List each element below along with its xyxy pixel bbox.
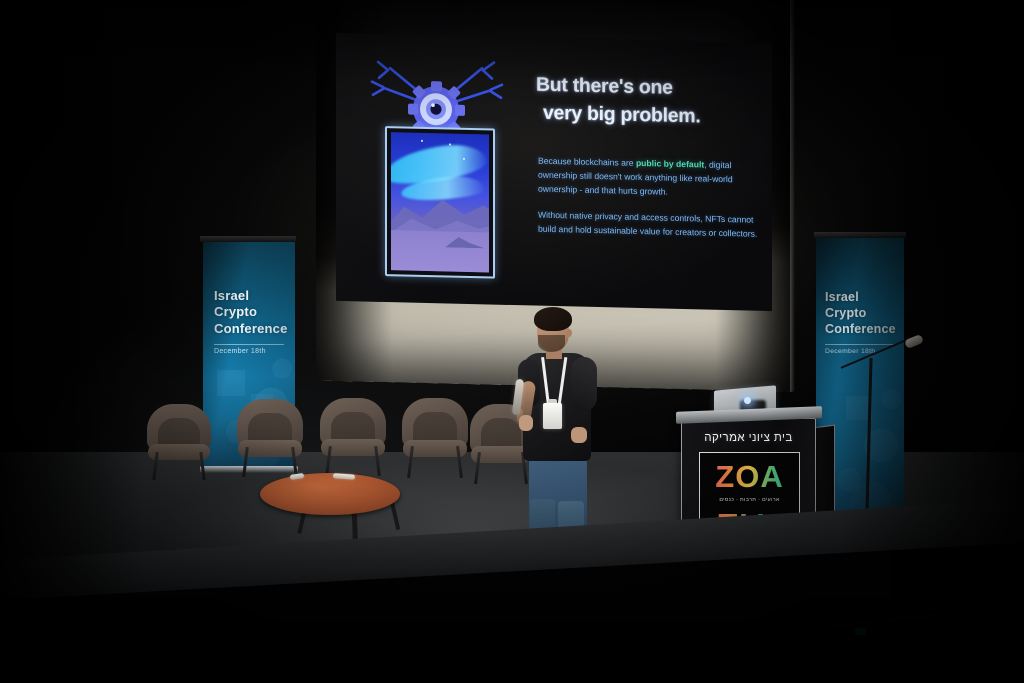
artwork-frame (385, 126, 495, 279)
chair-1 (147, 404, 211, 480)
screen-right-edge (790, 0, 795, 392)
chair-3 (320, 398, 386, 476)
water-surface (391, 230, 489, 272)
speaker-hand-right (571, 427, 587, 443)
presentation-slide: But there's one very big problem. Becaus… (336, 33, 772, 311)
slide-paragraph-1: Because blockchains are public by defaul… (538, 154, 760, 201)
chair-4 (402, 398, 468, 478)
coffee-table (260, 473, 400, 515)
speaker-beard (538, 335, 565, 352)
foreground-darkness (0, 598, 1024, 683)
speaker-hand-left (519, 415, 533, 431)
star (449, 144, 451, 146)
podium-hebrew-title: בית ציוני אמריקה (681, 432, 816, 444)
slide-headline: But there's one very big problem. (536, 72, 766, 133)
speaker-hair (534, 307, 572, 331)
star (463, 158, 465, 160)
paragraph-1-highlight: public by default (636, 158, 704, 170)
stage-scene: But there's one very big problem. Becaus… (0, 0, 1024, 683)
slide-paragraph-2: Without native privacy and access contro… (538, 208, 760, 241)
zoa-logo-subtitle: ארועים · תרבות · כנסים (700, 497, 799, 503)
laptop-indicator-light (744, 397, 751, 404)
slide-body-copy: Because blockchains are public by defaul… (538, 154, 760, 253)
artwork-canvas (391, 132, 489, 272)
paragraph-1-pre: Because blockchains are (538, 156, 636, 168)
speaker-badge (543, 403, 562, 429)
chair-2 (237, 399, 303, 477)
nft-artwork-graphic (364, 44, 514, 280)
star (421, 140, 423, 142)
speaker-ear (566, 329, 572, 337)
headline-line-1: But there's one (536, 74, 673, 99)
zoa-logo-wordmark: ZOA (700, 459, 799, 495)
headline-line-2: very big problem. (536, 99, 766, 132)
